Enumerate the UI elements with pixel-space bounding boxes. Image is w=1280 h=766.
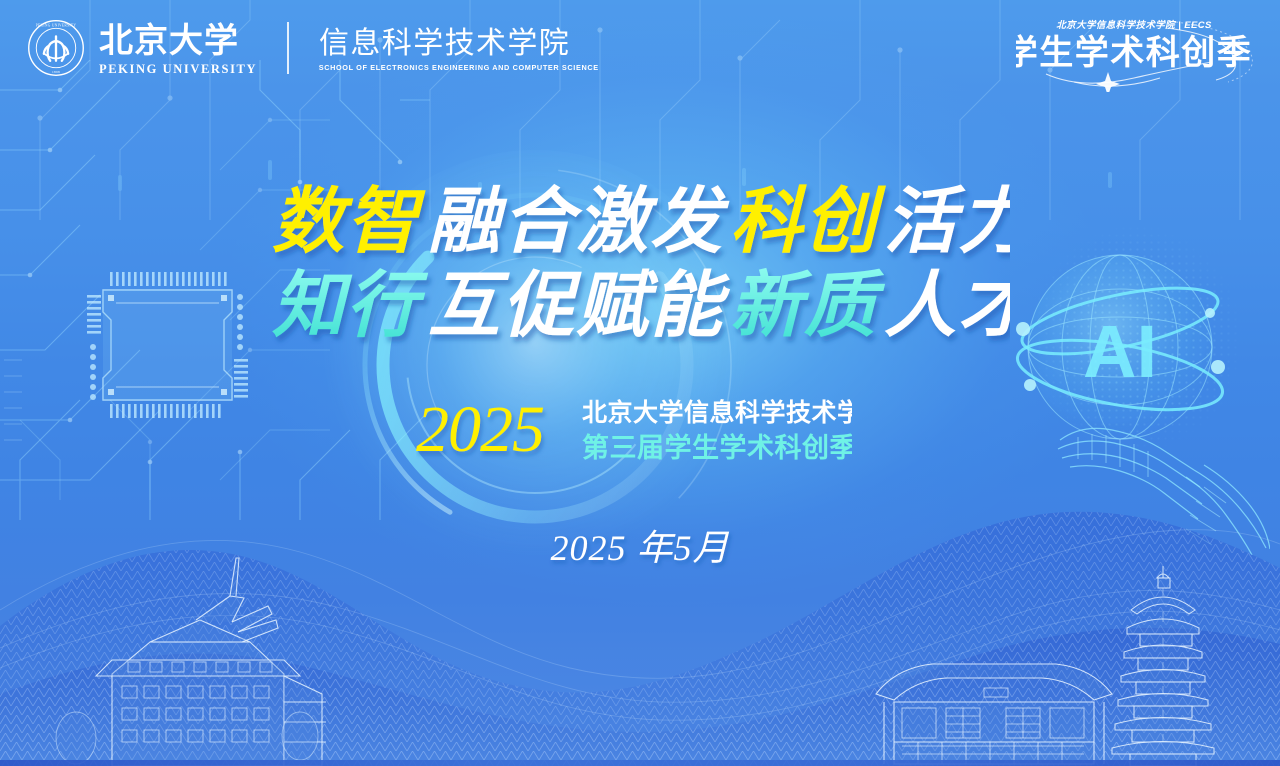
academic-season-logo: 北京大学信息科学技术学院 | EECS 学生学术科创季	[1016, 14, 1256, 92]
hero-date-block: 2025 年5月	[0, 522, 1280, 574]
season-logo-subtitle: 北京大学信息科学技术学院 | EECS	[1056, 19, 1212, 31]
svg-text:PEKING UNIVERSITY: PEKING UNIVERSITY	[36, 24, 77, 28]
hero-title-p1: 数智	[272, 182, 426, 262]
svg-text:1898: 1898	[52, 70, 60, 74]
hero-subtitle-lines: 北京大学信息科学技术学院 第三届学生学术科创季	[582, 396, 852, 463]
hero-title-line-1-wrap: 数智 融合激发 科创 活力	[0, 178, 1280, 264]
bottom-accent-bar	[0, 760, 1280, 766]
poster-canvas: AI	[0, 0, 1280, 766]
hero-subtitle-row: 2025 北京大学信息科学技术学院 第三届学生学术科创季	[0, 393, 1280, 465]
hero-title-line-1: 数智 融合激发 科创 活力	[270, 178, 1010, 264]
hero-title-line-2: 知行 互促赋能 新质 人才	[270, 260, 1010, 350]
pku-name-cn-text: 北京大学	[99, 21, 239, 60]
pku-university-logo: PEKING UNIVERSITY 1898 北京大学 PEKING UNIVE…	[27, 19, 599, 77]
pku-name-cn: 北京大学	[99, 19, 239, 61]
hero-date: 2025 年5月	[510, 522, 770, 574]
hero-year-wrap: 2025	[416, 393, 568, 465]
logo-divider	[287, 22, 289, 74]
hero-date-text: 2025 年5月	[550, 528, 729, 568]
hero-title-line-2-wrap: 知行 互促赋能 新质 人才	[0, 260, 1280, 350]
school-name-cn-text: 信息科学技术学院	[319, 27, 569, 59]
school-name-block: 信息科学技术学院 SCHOOL OF ELECTRONICS ENGINEERI…	[319, 25, 599, 72]
hero-subtitle-2-text: 第三届学生学术科创季	[582, 432, 852, 463]
hero-title2-p1: 知行	[272, 266, 429, 346]
hero-subtitle-1: 北京大学信息科学技术学院	[582, 396, 852, 427]
hero-year-text: 2025	[416, 393, 544, 465]
season-logo-title: 学生学术科创季	[1016, 33, 1252, 72]
pku-name-en: PEKING UNIVERSITY	[99, 62, 257, 77]
hero-title-p3: 科创	[730, 182, 887, 262]
hero-title2-p3: 新质	[730, 266, 886, 346]
hero-subtitle-2-wrap: 第三届学生学术科创季	[582, 430, 852, 463]
hero-title-p4: 活力	[884, 182, 1010, 262]
hero-title2-p2: 互促赋能	[428, 266, 731, 346]
pku-west-gate-icon	[876, 664, 1112, 764]
pku-name-block: 北京大学 PEKING UNIVERSITY	[99, 19, 257, 77]
hero-title-block: 数智 融合激发 科创 活力 知行	[0, 178, 1280, 350]
hero-subtitle-2: 第三届学生学术科创季	[582, 430, 852, 463]
hero-subtitle-1-text: 北京大学信息科学技术学院	[582, 398, 852, 427]
hero-title-p2: 融合激发	[428, 182, 730, 262]
school-name-cn: 信息科学技术学院	[319, 25, 569, 59]
hero-year: 2025	[416, 393, 568, 465]
hero-title2-p4: 人才	[884, 266, 1010, 346]
pku-seal-icon: PEKING UNIVERSITY 1898	[27, 19, 85, 77]
campus-landmarks	[0, 556, 1280, 766]
poster-header: PEKING UNIVERSITY 1898 北京大学 PEKING UNIVE…	[0, 0, 1280, 96]
hero-subtitle-1-wrap: 北京大学信息科学技术学院	[582, 396, 852, 427]
school-name-en: SCHOOL OF ELECTRONICS ENGINEERING AND CO…	[319, 63, 599, 72]
